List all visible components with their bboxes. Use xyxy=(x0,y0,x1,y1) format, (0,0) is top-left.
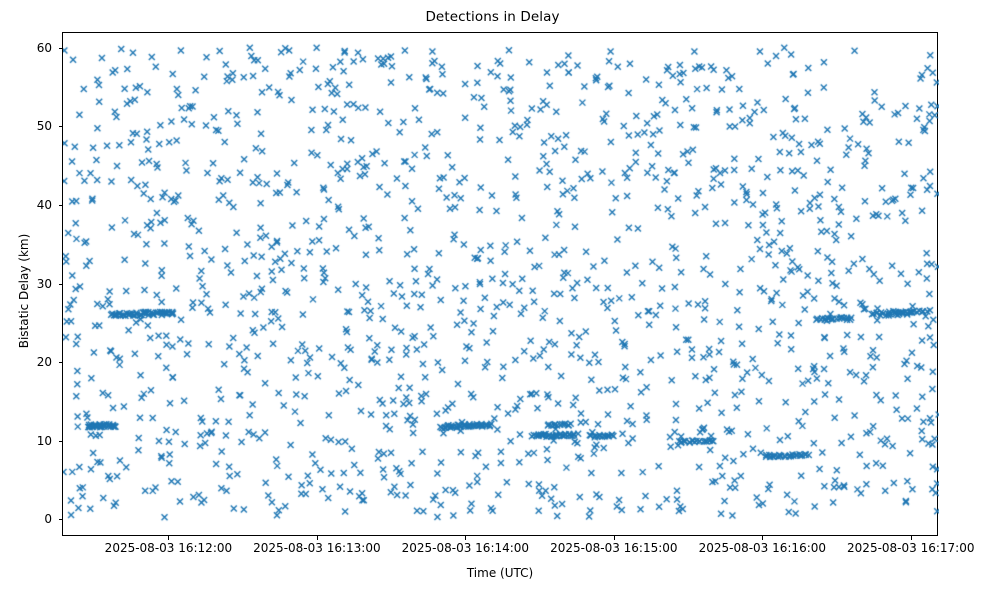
x-tick-label: 2025-08-03 16:13:00 xyxy=(253,541,380,555)
y-tick-mark xyxy=(59,284,63,285)
x-axis-label: Time (UTC) xyxy=(62,566,938,580)
y-tick-label: 60 xyxy=(0,41,52,55)
x-tick-label: 2025-08-03 16:17:00 xyxy=(847,541,974,555)
scatter-plot-figure: Detections in Delay Time (UTC) Bistatic … xyxy=(0,0,985,590)
x-tick-label: 2025-08-03 16:15:00 xyxy=(550,541,677,555)
x-tick-mark xyxy=(317,536,318,540)
x-tick-mark xyxy=(168,536,169,540)
y-tick-mark xyxy=(59,126,63,127)
page-title: Detections in Delay xyxy=(0,9,985,25)
scatter-points-canvas xyxy=(63,33,939,537)
y-tick-mark xyxy=(59,48,63,49)
x-tick-mark xyxy=(614,536,615,540)
y-axis-label: Bistatic Delay (km) xyxy=(17,151,31,431)
x-tick-mark xyxy=(465,536,466,540)
y-tick-label: 30 xyxy=(0,277,52,291)
y-tick-label: 20 xyxy=(0,355,52,369)
y-tick-label: 0 xyxy=(0,512,52,526)
x-tick-mark xyxy=(911,536,912,540)
x-tick-label: 2025-08-03 16:16:00 xyxy=(699,541,826,555)
x-tick-label: 2025-08-03 16:14:00 xyxy=(402,541,529,555)
x-tick-label: 2025-08-03 16:12:00 xyxy=(105,541,232,555)
plot-axes-frame xyxy=(62,32,938,536)
y-tick-label: 50 xyxy=(0,119,52,133)
x-tick-mark xyxy=(762,536,763,540)
y-tick-mark xyxy=(59,362,63,363)
y-tick-mark xyxy=(59,441,63,442)
y-tick-label: 40 xyxy=(0,198,52,212)
y-tick-mark xyxy=(59,519,63,520)
y-tick-mark xyxy=(59,205,63,206)
y-tick-label: 10 xyxy=(0,434,52,448)
